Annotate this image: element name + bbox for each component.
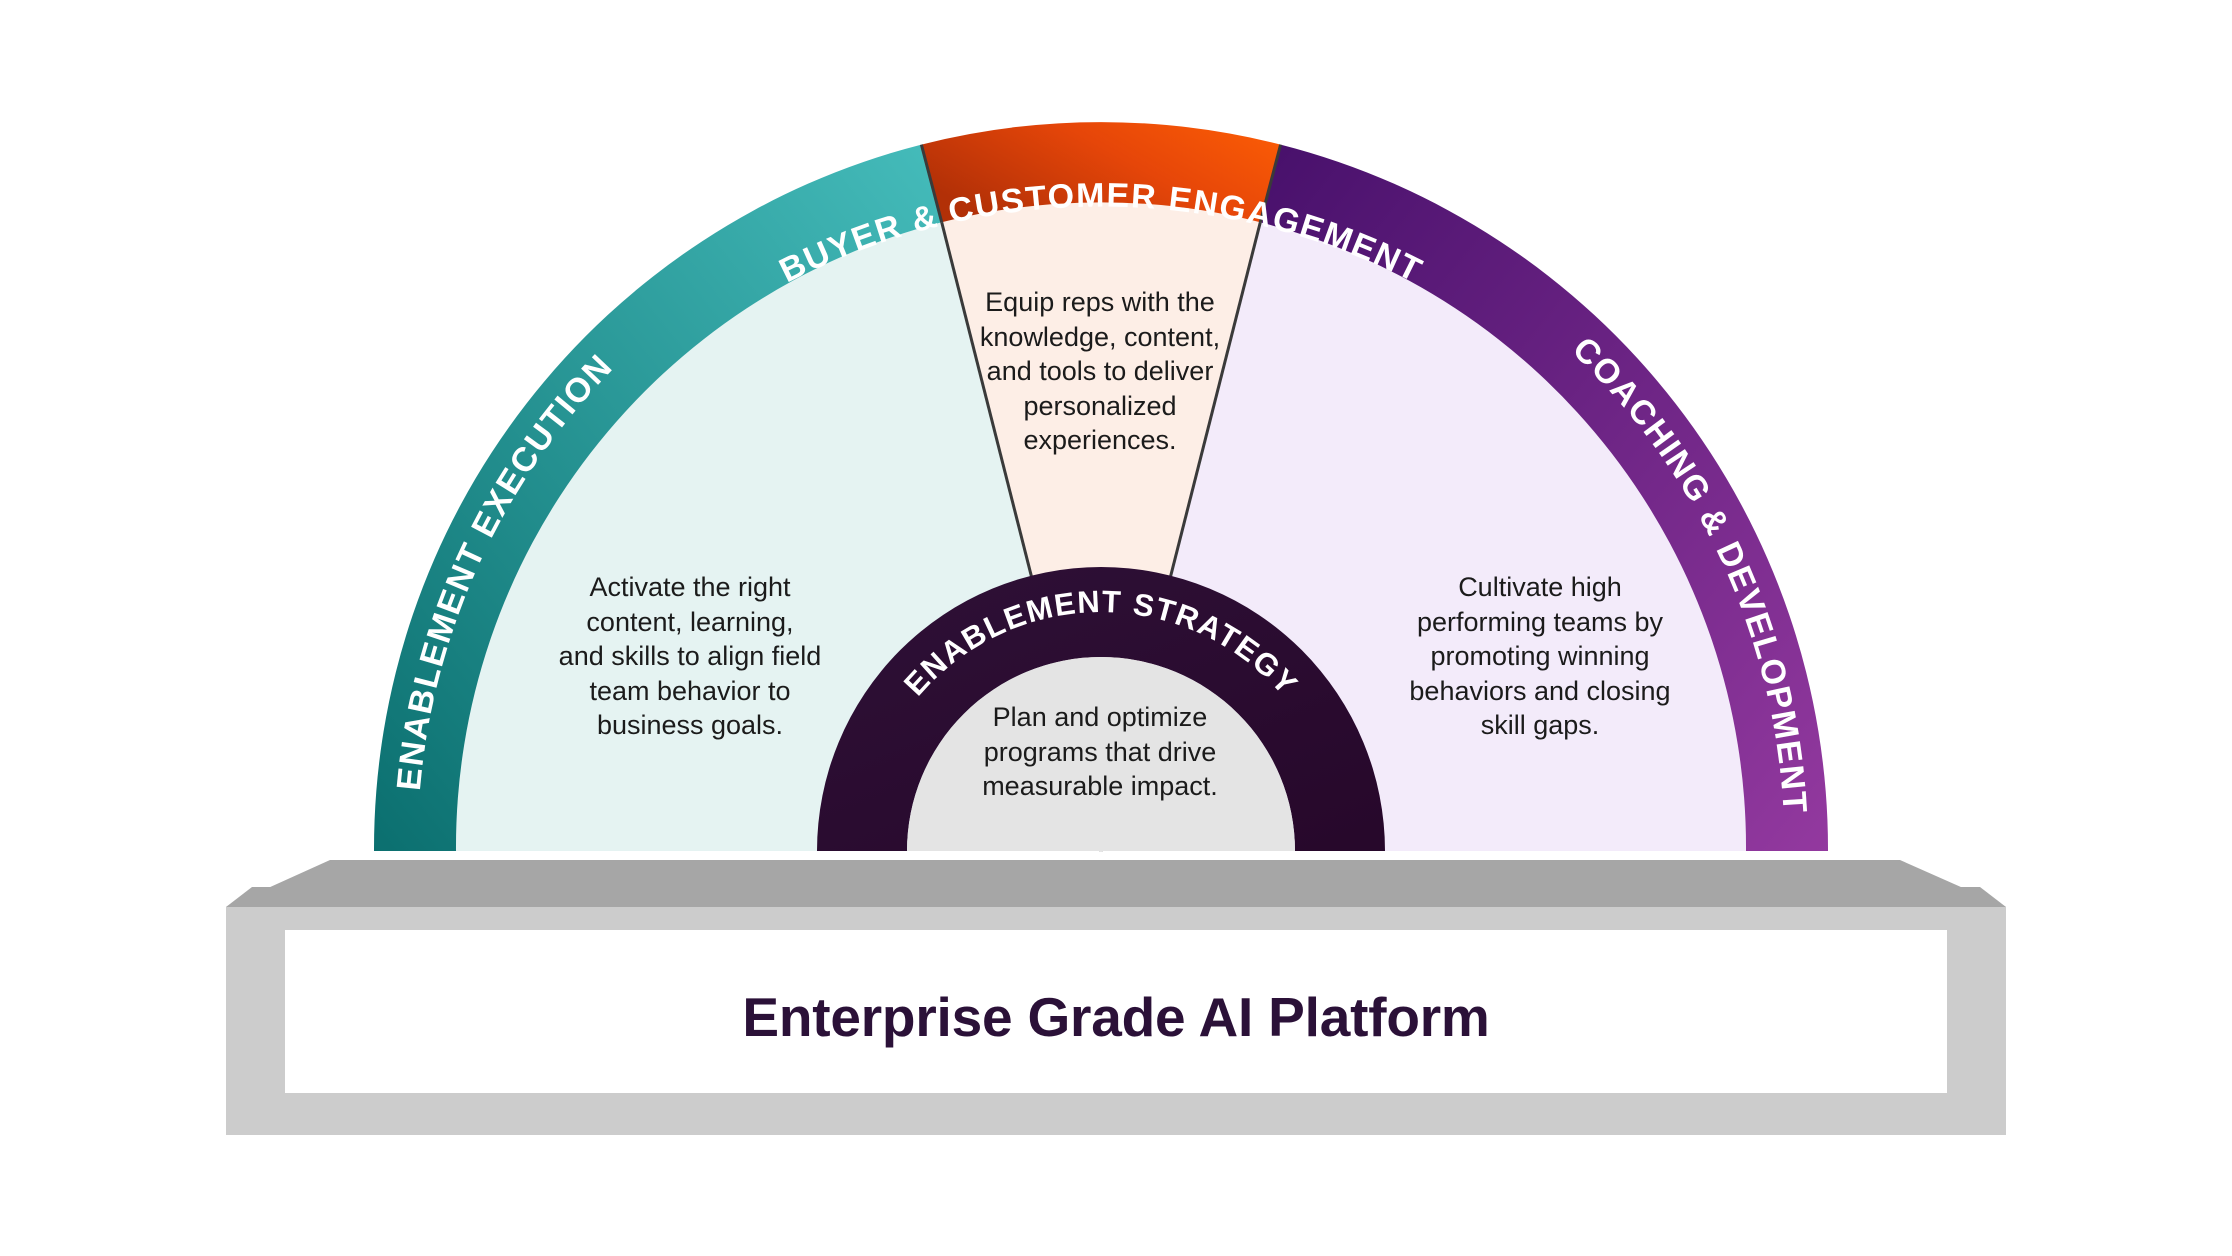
enablement-arc-diagram: ENABLEMENT EXECUTION BUYER & CUSTOMER EN…: [0, 0, 2232, 1256]
platform-title: Enterprise Grade AI Platform: [0, 985, 2232, 1049]
hub-body-text: Plan and optimize programs that drive me…: [955, 700, 1245, 804]
platform-perspective-top: [226, 860, 2006, 907]
sector-text-buyer-customer-engagement: Equip reps with the knowledge, content, …: [950, 285, 1250, 458]
sector-text-coaching-development: Cultivate high performing teams by promo…: [1380, 570, 1700, 743]
diagram-canvas: ENABLEMENT EXECUTION BUYER & CUSTOMER EN…: [0, 0, 2232, 1256]
sector-text-enablement-execution: Activate the right content, learning, an…: [530, 570, 850, 743]
